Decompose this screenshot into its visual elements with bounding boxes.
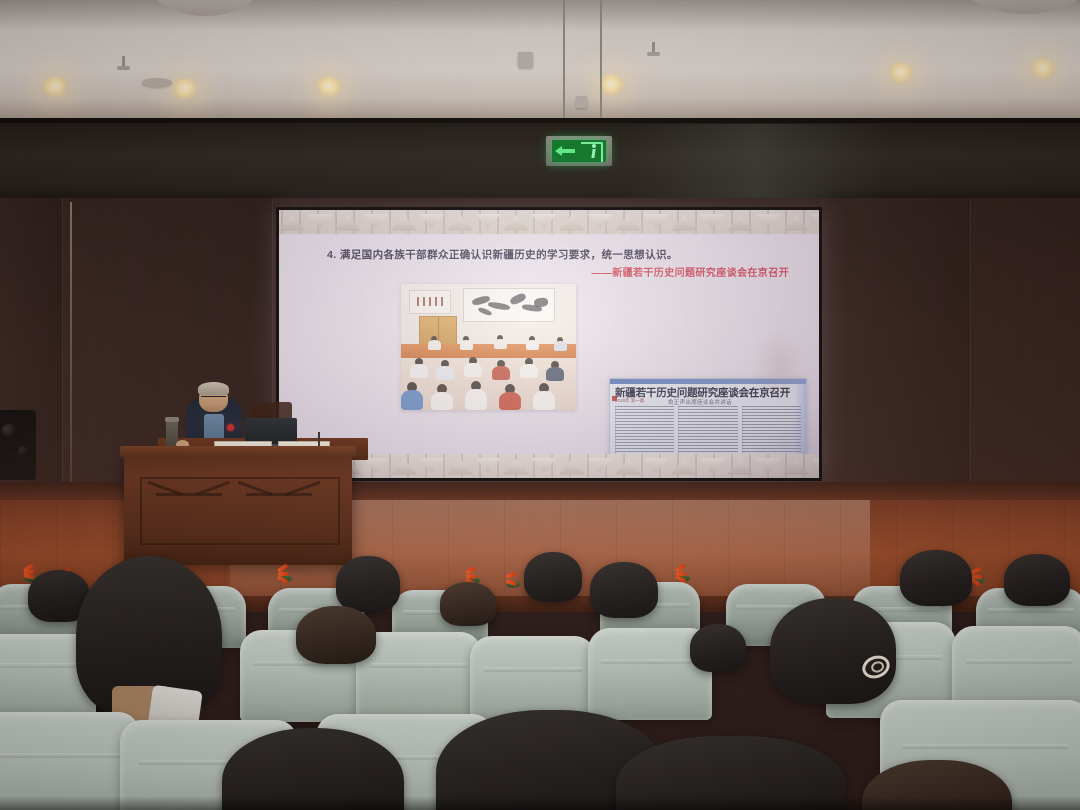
ceiling xyxy=(0,0,1080,126)
ceiling-speaker xyxy=(0,410,36,480)
downlight xyxy=(888,62,914,84)
slide-top-border xyxy=(279,210,819,234)
newspaper-subhead: 俞正声出席座谈会并讲话 xyxy=(668,398,732,406)
attendee-head xyxy=(524,552,582,602)
sprinkler-head xyxy=(652,42,655,54)
calligraphy-frame-icon xyxy=(409,290,451,314)
attendee-head xyxy=(690,624,746,672)
downlight xyxy=(1030,58,1056,80)
podium-front xyxy=(124,455,352,565)
newspaper-dateline: 2019年 第一版 xyxy=(615,398,644,404)
sprinkler-head xyxy=(122,56,125,68)
audience-area xyxy=(0,560,1080,810)
newspaper-column xyxy=(678,406,737,461)
wall-seam xyxy=(70,202,72,502)
downlight xyxy=(316,76,342,98)
attendee-head xyxy=(770,598,896,704)
left-arrow-icon xyxy=(555,146,575,156)
running-person-icon xyxy=(592,144,597,158)
ceiling-smoke-detector xyxy=(518,52,533,68)
podium-panel xyxy=(140,477,340,545)
speaker-driver-icon xyxy=(18,446,28,456)
triangle-pattern xyxy=(279,210,819,234)
attendee-head xyxy=(336,556,400,612)
ceiling-soffit-band xyxy=(0,118,1080,204)
ceiling-sensor xyxy=(576,96,587,108)
auditorium-scene: 4. 满足国内各族干部群众正确认识新疆历史的学习要求，统一思想认识。 ——新疆若… xyxy=(0,0,1080,810)
podium-chevron xyxy=(246,493,312,516)
speaker-driver-icon xyxy=(2,424,15,437)
podium-chevron xyxy=(156,493,222,516)
attendee-head xyxy=(440,582,496,626)
exit-sign xyxy=(546,136,612,166)
attendee-head xyxy=(590,562,658,618)
podium-top-rail xyxy=(120,446,356,457)
soffit-top-edge xyxy=(0,118,1080,123)
attendee-head xyxy=(296,606,376,664)
slide-subtitle: ——新疆若干历史问题研究座谈会在京召开 xyxy=(591,264,789,279)
soffit-reflection xyxy=(626,124,885,198)
ceiling-vent-fixture xyxy=(142,78,172,87)
presenter-hair xyxy=(198,382,229,395)
thermos-cap xyxy=(165,417,179,422)
newspaper-columns xyxy=(615,406,801,461)
attendee-head xyxy=(900,550,972,606)
ink-painting-icon xyxy=(463,288,555,322)
attendee-head xyxy=(1004,554,1070,606)
bottom-shadow xyxy=(0,796,1080,810)
glasses-icon xyxy=(201,396,226,402)
slide-title: 4. 满足国内各族干部群众正确认识新疆历史的学习要求，统一思想认识。 xyxy=(327,248,779,264)
newspaper-column xyxy=(615,406,674,461)
newspaper-column xyxy=(742,406,801,461)
downlight xyxy=(172,78,198,100)
slide-watermark xyxy=(753,328,805,406)
exit-sign-rod xyxy=(600,0,602,136)
exit-sign-panel xyxy=(552,140,606,162)
slide-photo-meeting xyxy=(401,284,576,410)
downlight xyxy=(42,76,68,98)
lapel-badge-icon xyxy=(227,424,234,431)
exit-sign-rod xyxy=(563,0,565,136)
